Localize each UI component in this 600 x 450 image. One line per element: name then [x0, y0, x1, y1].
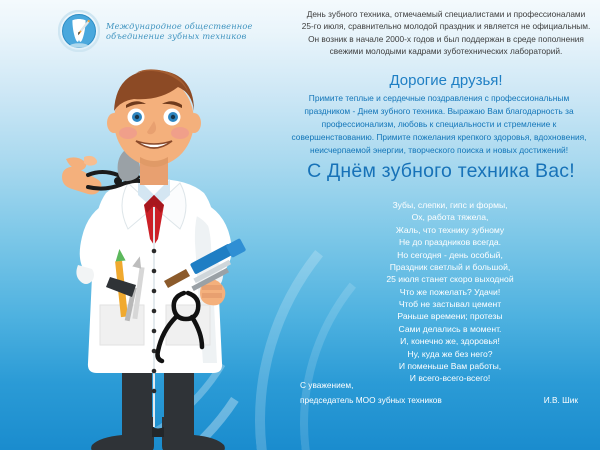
- dental-technician-character: [40, 55, 270, 450]
- poem-line: Но сегодня - день особый,: [330, 249, 570, 261]
- poem-line: И поменьше Вам работы,: [330, 360, 570, 372]
- signature-author: И.В. Шик: [544, 393, 592, 408]
- greeting-heading: Дорогие друзья!: [300, 72, 592, 89]
- organization-logo: Международное общественное объединение з…: [58, 10, 253, 52]
- signature-line1: С уважением,: [300, 378, 592, 393]
- poem-line: Раньше времени; протезы: [330, 310, 570, 322]
- poem-block: Зубы, слепки, гипс и формы, Ох, работа т…: [330, 199, 570, 385]
- organization-logo-text: Международное общественное объединение з…: [106, 21, 253, 42]
- intro-paragraph: День зубного техника, отмечаемый специал…: [300, 8, 592, 58]
- poem-line: Праздник светлый и большой,: [330, 261, 570, 273]
- poem-line: Зубы, слепки, гипс и формы,: [330, 199, 570, 211]
- poem-line: 25 июля станет скоро выходной: [330, 273, 570, 285]
- poem-line: Не до праздников всегда.: [330, 236, 570, 248]
- poem-line: Сами делались в момент.: [330, 323, 570, 335]
- poem-line: И, конечно же, здоровья!: [330, 335, 570, 347]
- signature-row: председатель МОО зубных техников И.В. Ши…: [300, 393, 592, 408]
- page-title: С Днём зубного техника Вас!: [290, 160, 592, 183]
- poem-line: Ох, работа тяжела,: [330, 211, 570, 223]
- poem-line: Чтоб не застывал цемент: [330, 298, 570, 310]
- greeting-body: Примите теплые и сердечные поздравления …: [286, 92, 592, 157]
- signature-block: С уважением, председатель МОО зубных тех…: [300, 378, 592, 407]
- signature-position: председатель МОО зубных техников: [300, 393, 442, 408]
- poem-line: Жаль, что технику зубному: [330, 224, 570, 236]
- organization-logo-line1: Международное общественное: [106, 21, 253, 31]
- greeting-card: Международное общественное объединение з…: [0, 0, 600, 450]
- poem-line: Что же пожелать? Удачи!: [330, 286, 570, 298]
- poem-line: Ну, куда же без него?: [330, 348, 570, 360]
- tooth-shield-pen-emblem-icon: [58, 10, 100, 52]
- organization-logo-line2: объединение зубных техников: [106, 31, 253, 41]
